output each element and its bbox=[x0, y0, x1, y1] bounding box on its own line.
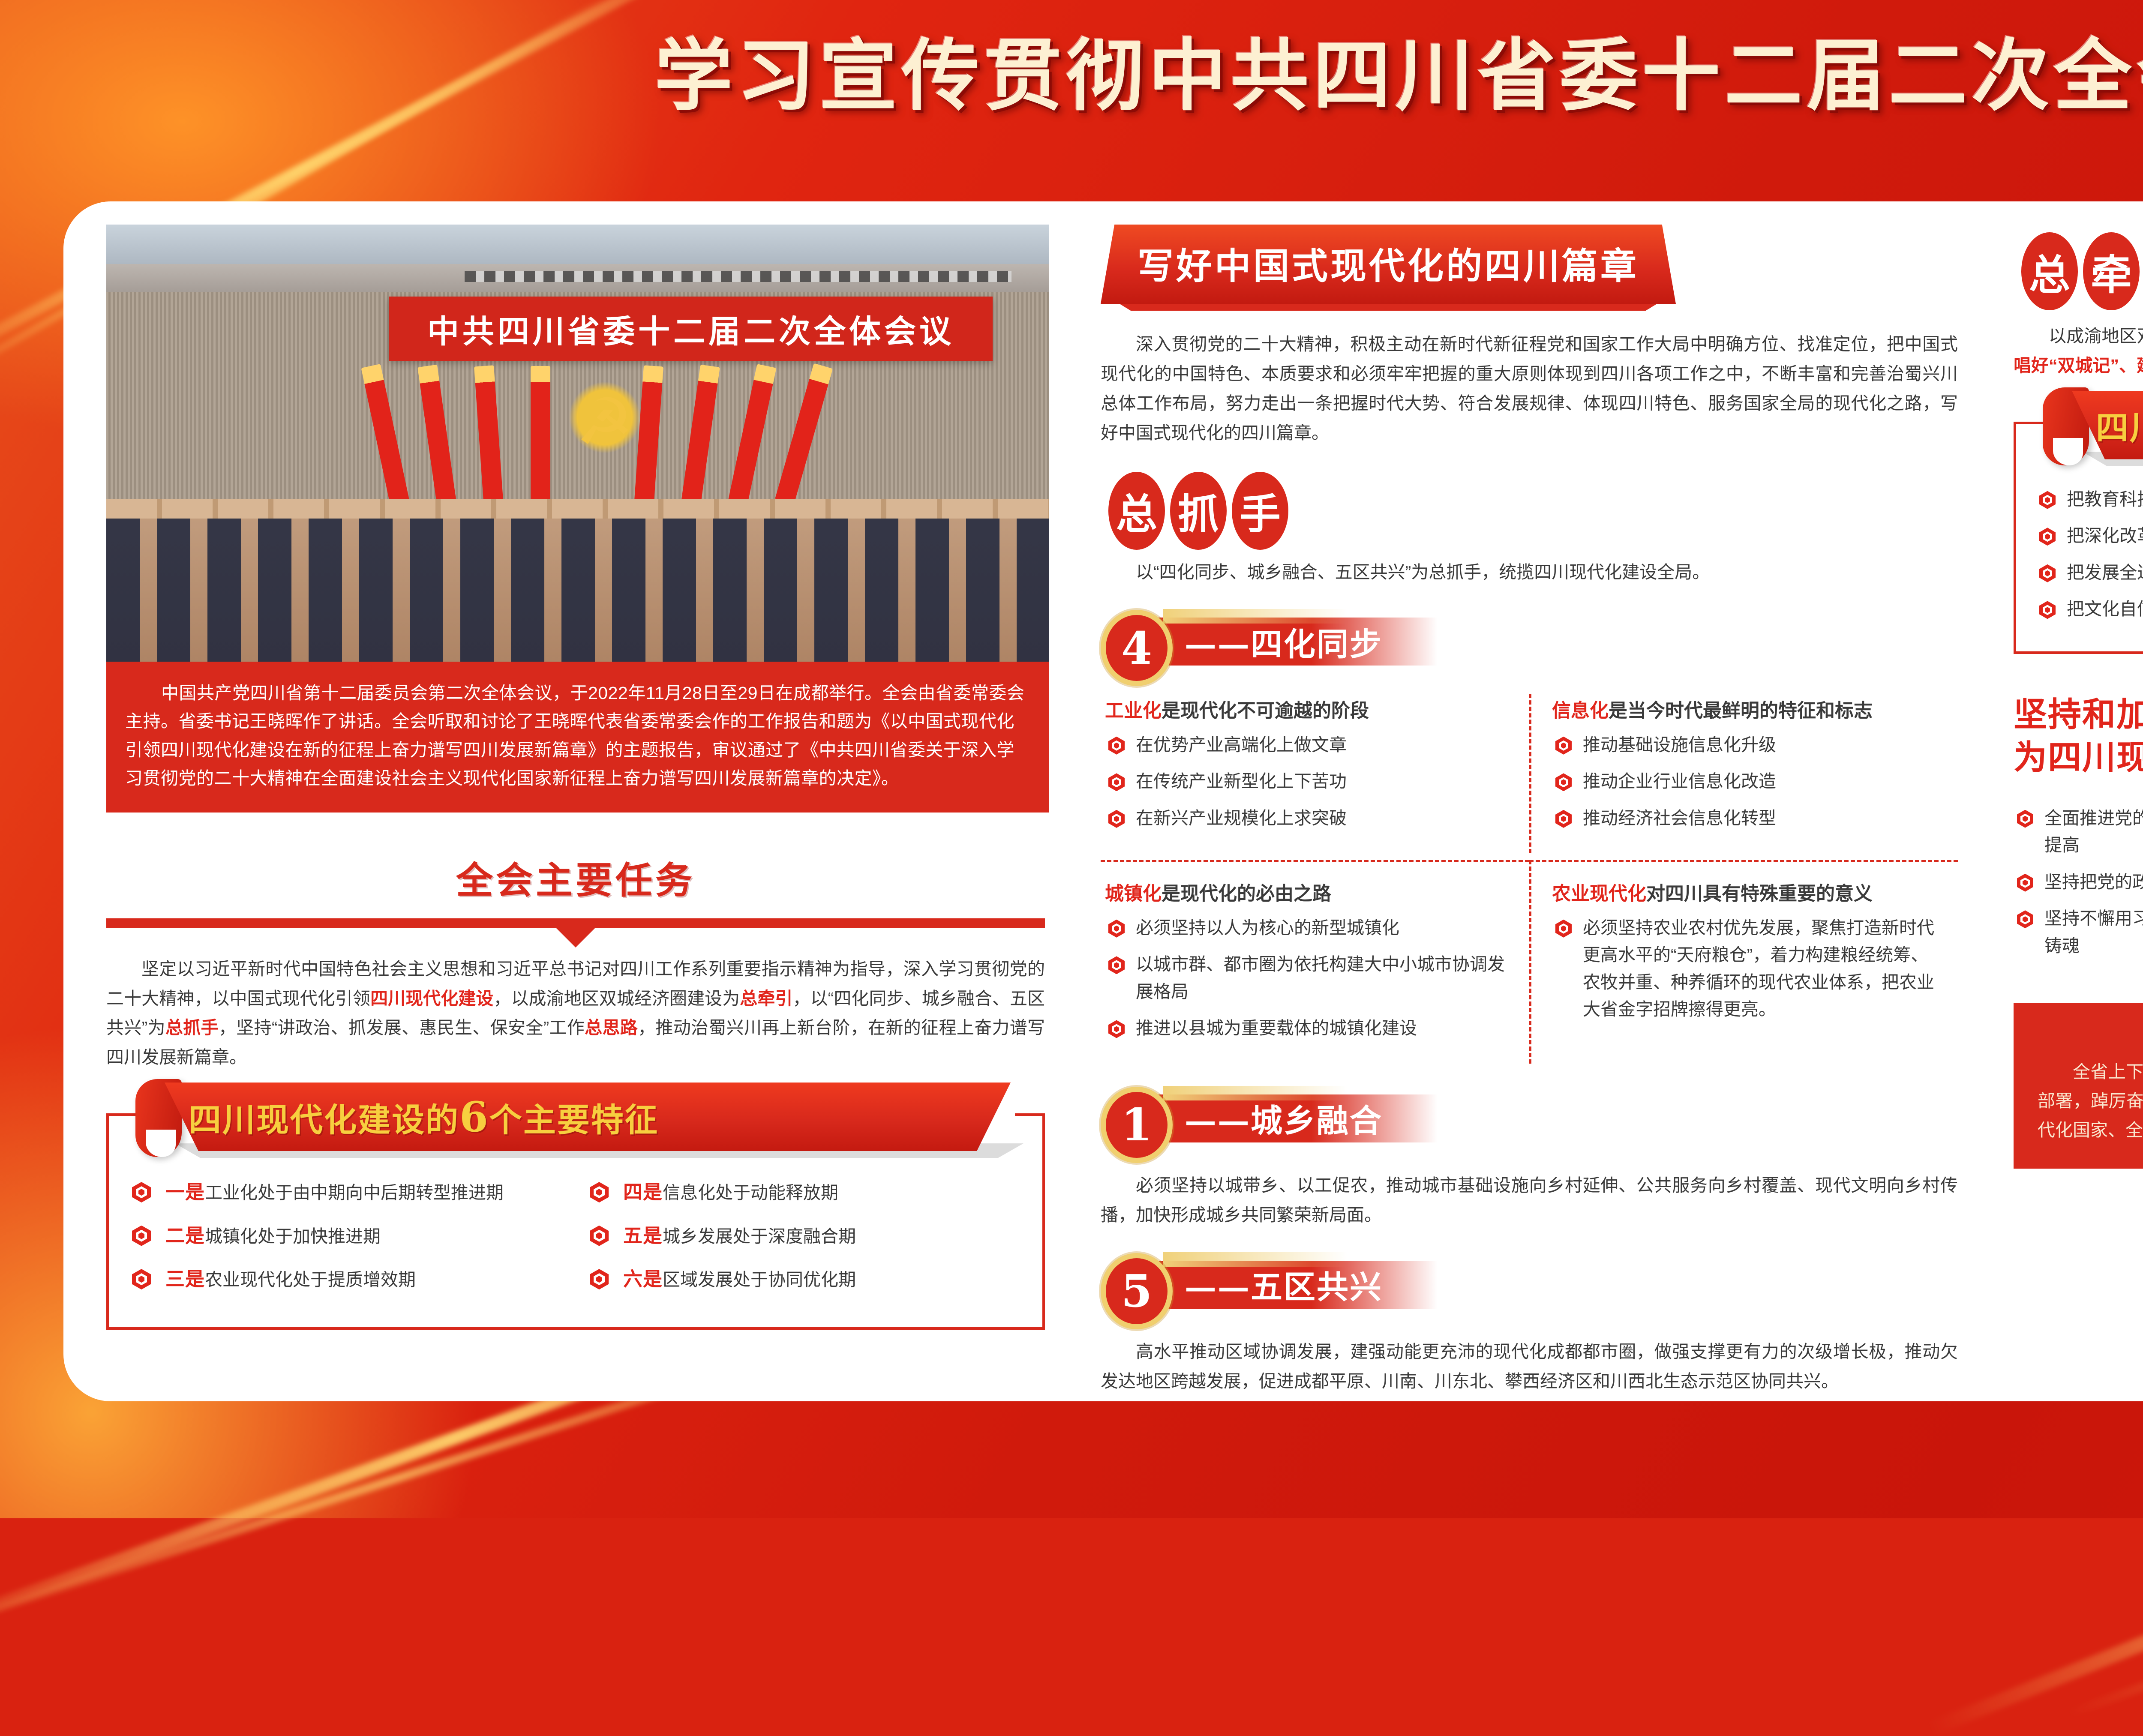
quadrant-informatization: 信息化是当今时代最鲜明的特征和标志 推动基础设施信息化升级 推动企业行业信息化改… bbox=[1529, 694, 1958, 853]
list-item: 推动经济社会信息化转型 bbox=[1552, 805, 1943, 832]
five-zones-label: ——五区共兴 bbox=[1185, 1262, 1383, 1307]
features-list-left: 一是工业化处于由中期向中后期转型推进期 二是城镇化处于加快推进期 三是农业现代化… bbox=[129, 1178, 565, 1308]
feature-text: 农业现代化处于提质增效期 bbox=[205, 1270, 416, 1289]
flag-icon bbox=[531, 366, 550, 507]
four-sync-heading: ——四化同步 4 bbox=[1101, 610, 1958, 683]
quadrant-lead: 是现代化不可逾越的阶段 bbox=[1162, 700, 1369, 721]
key-tasks-box-header: 四川现代化建设的7项重点任务 bbox=[2031, 387, 2143, 465]
feature-number: 四是 bbox=[623, 1181, 663, 1203]
feature-number: 三是 bbox=[165, 1268, 205, 1290]
feature-number: 一是 bbox=[165, 1181, 205, 1203]
five-zones-ribbon: ——五区共兴 bbox=[1138, 1261, 1438, 1309]
features-header-plate: 四川现代化建设的6个主要特征 bbox=[165, 1082, 1011, 1151]
general-traction-tag: 总 牵 引 bbox=[2021, 232, 2143, 310]
general-handle-body: 以“四化同步、城乡融合、五区共兴”为总抓手，统揽四川现代化建设全局。 bbox=[1101, 558, 1958, 587]
tag-char: 牵 bbox=[2083, 232, 2140, 310]
features-box-header: 四川现代化建设的6个主要特征 bbox=[123, 1079, 1011, 1157]
key-tasks-header-text: 四川现代化建设的7项重点任务 bbox=[2096, 401, 2143, 449]
hexagon-bullet-icon bbox=[132, 1182, 151, 1202]
main-task-heading-text: 全会主要任务 bbox=[106, 850, 1045, 904]
four-sync-label: ——四化同步 bbox=[1185, 619, 1383, 665]
call-to-action-box: 全会号召 全省上下要更加紧密地团结在以习近平同志为核心的党中央周围，全面贯彻落实… bbox=[2014, 1003, 2143, 1169]
photo-ceiling bbox=[106, 225, 1049, 264]
list-item: 推动基础设施信息化升级 bbox=[1552, 732, 1943, 759]
list-item: 必须坚持以人为核心的新型城镇化 bbox=[1105, 914, 1515, 942]
flag-icon bbox=[728, 364, 777, 506]
main-task-body-2: ，以成渝地区双城经济圈建设为 bbox=[493, 989, 740, 1008]
feature-number: 六是 bbox=[623, 1268, 663, 1290]
party-leadership-list: 全面推进党的自我净化、自我完善、自我革新、自我提高 坚持把党的政治建设摆在首位 … bbox=[2014, 805, 2143, 969]
hexagon-bullet-icon bbox=[1108, 956, 1125, 974]
quadrant-title: 城镇化是现代化的必由之路 bbox=[1105, 881, 1515, 906]
list-item: 三是农业现代化处于提质增效期 bbox=[129, 1265, 565, 1294]
list-item: 一是工业化处于由中期向中后期转型推进期 bbox=[129, 1178, 565, 1207]
quadrant-title: 工业化是现代化不可逾越的阶段 bbox=[1105, 698, 1515, 723]
quadrant-lead: 是当今时代最鲜明的特征和标志 bbox=[1609, 700, 1873, 721]
list-item: 把发展全过程人民民主作为重要保障 bbox=[2036, 559, 2143, 587]
list-item: 二是城镇化处于加快推进期 bbox=[129, 1221, 565, 1250]
list-item: 六是区域发展处于协同优化期 bbox=[586, 1265, 1023, 1294]
five-zones-number: 5 bbox=[1101, 1253, 1173, 1329]
list-item: 把文化自信自强作为持久精神力量 bbox=[2036, 596, 2143, 623]
list-item: 把深化改革扩大开放作为根本动力 bbox=[2036, 522, 2143, 550]
hexagon-bullet-icon bbox=[590, 1269, 609, 1289]
hexagon-bullet-icon bbox=[2039, 528, 2056, 546]
party-leadership-title-line2: 为四川现代化建设提供坚强保证 bbox=[2014, 736, 2143, 779]
feature-text: 城镇化处于加快推进期 bbox=[205, 1226, 381, 1246]
key-tasks-box: 四川现代化建设的7项重点任务 把教育科技人才作为战略先导 把深化改革扩大开放作为… bbox=[2014, 422, 2143, 654]
party-leadership-list-left: 全面推进党的自我净化、自我完善、自我革新、自我提高 坚持把党的政治建设摆在首位 … bbox=[2014, 805, 2143, 969]
hexagon-bullet-icon bbox=[590, 1226, 609, 1246]
hexagon-bullet-icon bbox=[1555, 773, 1572, 791]
general-handle-tag: 总 抓 手 bbox=[1108, 472, 1958, 550]
feature-text: 信息化处于动能释放期 bbox=[663, 1183, 838, 1202]
hexagon-bullet-icon bbox=[1555, 737, 1572, 755]
hexagon-bullet-icon bbox=[2039, 491, 2056, 509]
flag-icon bbox=[681, 365, 720, 507]
hexagon-bullet-icon bbox=[2017, 874, 2033, 892]
main-task-highlight-2: 总牵引 bbox=[740, 989, 792, 1008]
flag-icon bbox=[361, 364, 410, 506]
chapter-heading-plate: 写好中国式现代化的四川篇章 bbox=[1101, 225, 1676, 304]
hexagon-bullet-icon bbox=[1555, 920, 1572, 938]
list-item: 推动企业行业信息化改造 bbox=[1552, 768, 1943, 795]
list-item: 以城市群、都市圈为依托构建大中小城市协调发展格局 bbox=[1105, 951, 1515, 1005]
five-zones-heading: ——五区共兴 5 bbox=[1101, 1253, 1958, 1326]
feature-number: 五是 bbox=[623, 1225, 663, 1247]
hexagon-bullet-icon bbox=[590, 1182, 609, 1202]
urban-rural-body: 必须坚持以城带乡、以工促农，推动城市基础设施向乡村延伸、公共服务向乡村覆盖、现代… bbox=[1101, 1171, 1958, 1230]
content-card: 中共四川省委十二届二次全体会议 中国共产党四川省第十二届委员会第二次全体会议，于… bbox=[63, 201, 2143, 1401]
features-head-suffix: 个主要特征 bbox=[489, 1101, 659, 1139]
poster-title: 学习宣传贯彻中共四川省委十二届二次全会精神 bbox=[0, 13, 2143, 126]
list-item: 把教育科技人才作为战略先导 bbox=[2036, 486, 2143, 513]
quadrant-bullets: 必须坚持以人为核心的新型城镇化 以城市群、都市圈为依托构建大中小城市协调发展格局… bbox=[1105, 914, 1515, 1042]
photo-stage-banner-text: 中共四川省委十二届二次全体会议 bbox=[427, 306, 954, 352]
hexagon-bullet-icon bbox=[2017, 910, 2033, 928]
hexagon-bullet-icon bbox=[2039, 564, 2056, 582]
tag-char: 抓 bbox=[1170, 472, 1227, 550]
column-right: 总 牵 引 以成渝地区双城经济圈建设作为四川现代化建设的总牵引，加强与重庆方面全… bbox=[1984, 225, 2143, 1384]
quadrant-bullets: 在优势产业高端化上做文章 在传统产业新型化上下苦功 在新兴产业规模化上求突破 bbox=[1105, 732, 1515, 832]
hexagon-bullet-icon bbox=[132, 1226, 151, 1246]
main-task-heading: 全会主要任务 bbox=[106, 850, 1045, 904]
quadrant-title: 信息化是当今时代最鲜明的特征和标志 bbox=[1552, 698, 1943, 723]
urban-rural-label: ——城乡融合 bbox=[1185, 1095, 1383, 1141]
hexagon-bullet-icon bbox=[132, 1269, 151, 1289]
photo-light-rail bbox=[106, 264, 1049, 292]
poster-title-text: 学习宣传贯彻中共四川省委十二届二次全会精神 bbox=[655, 13, 2143, 126]
features-header-text: 四川现代化建设的6个主要特征 bbox=[189, 1093, 659, 1141]
photo-audience-seating bbox=[106, 499, 1049, 662]
list-item: 全面推进党的自我净化、自我完善、自我革新、自我提高 bbox=[2014, 805, 2143, 859]
party-leadership-title-line1: 坚持和加强党的全面领导 bbox=[2014, 693, 2143, 736]
feature-text: 区域发展处于协同优化期 bbox=[663, 1270, 856, 1289]
five-zones-body: 高水平推动区域协调发展，建强动能更充沛的现代化成都都市圈，做强支撑更有力的次级增… bbox=[1101, 1337, 1958, 1396]
features-head-number: 6 bbox=[459, 1093, 489, 1141]
urban-rural-number: 1 bbox=[1101, 1087, 1173, 1163]
quadrant-lead: 对四川具有特殊重要的意义 bbox=[1646, 883, 1873, 904]
quadrant-bullets: 推动基础设施信息化升级 推动企业行业信息化改造 推动经济社会信息化转型 bbox=[1552, 732, 1943, 832]
feature-text: 工业化处于由中期向中后期转型推进期 bbox=[205, 1183, 504, 1202]
four-sync-grid: 工业化是现代化不可逾越的阶段 在优势产业高端化上做文章 在传统产业新型化上下苦功… bbox=[1101, 694, 1958, 1064]
quadrant-key: 城镇化 bbox=[1105, 883, 1162, 904]
column-left: 中共四川省委十二届二次全体会议 中国共产党四川省第十二届委员会第二次全体会议，于… bbox=[89, 225, 1075, 1384]
main-task-highlight-3: 总抓手 bbox=[165, 1018, 219, 1037]
feature-number: 二是 bbox=[165, 1225, 205, 1247]
quadrant-key: 信息化 bbox=[1552, 700, 1609, 721]
hexagon-bullet-icon bbox=[1108, 737, 1125, 755]
quadrant-key: 工业化 bbox=[1105, 700, 1162, 721]
list-item: 在优势产业高端化上做文章 bbox=[1105, 732, 1515, 759]
hexagon-bullet-icon bbox=[1108, 1020, 1125, 1038]
list-item: 坚持把党的政治建设摆在首位 bbox=[2014, 869, 2143, 896]
list-item: 在传统产业新型化上下苦功 bbox=[1105, 768, 1515, 795]
photo-caption: 中国共产党四川省第十二届委员会第二次全体会议，于2022年11月28日至29日在… bbox=[106, 662, 1049, 813]
flag-icon bbox=[474, 365, 504, 507]
hexagon-bullet-icon bbox=[1555, 810, 1572, 828]
list-item: 五是城乡发展处于深度融合期 bbox=[586, 1221, 1023, 1250]
main-task-body: 坚定以习近平新时代中国特色社会主义思想和习近平总书记对四川工作系列重要指示精神为… bbox=[106, 954, 1045, 1073]
hexagon-bullet-icon bbox=[2017, 810, 2033, 828]
main-task-body-4: ，坚持“讲政治、抓发展、惠民生、保安全”工作 bbox=[219, 1018, 585, 1037]
chapter-heading: 写好中国式现代化的四川篇章 bbox=[1101, 225, 1676, 304]
features-box: 四川现代化建设的6个主要特征 一是工业化处于由中期向中后期转型推进期 二是城镇化… bbox=[106, 1113, 1045, 1330]
content-columns: 中共四川省委十二届二次全体会议 中国共产党四川省第十二届委员会第二次全体会议，于… bbox=[63, 201, 2143, 1401]
quadrant-bullets: 必须坚持农业农村优先发展，聚焦打造新时代更高水平的“天府粮仓”，着力构建粮经统筹… bbox=[1552, 914, 1943, 1023]
feature-text: 城乡发展处于深度融合期 bbox=[663, 1226, 856, 1246]
call-to-action-body: 全省上下要更加紧密地团结在以习近平同志为核心的党中央周围，全面贯彻落实党的二十大… bbox=[2038, 1057, 2143, 1145]
four-sync-number: 4 bbox=[1101, 610, 1173, 686]
list-item: 坚持不懈用习近平新时代中国特色社会主义思想凝心铸魂 bbox=[2014, 905, 2143, 959]
hexagon-bullet-icon bbox=[1108, 920, 1125, 938]
general-traction-body: 以成渝地区双城经济圈建设作为四川现代化建设的总牵引，加强与重庆方面全方位协作，在… bbox=[2014, 321, 2143, 381]
conference-photo: 中共四川省委十二届二次全体会议 bbox=[106, 225, 1049, 662]
features-list-right: 四是信息化处于动能释放期 五是城乡发展处于深度融合期 六是区域发展处于协同优化期 bbox=[586, 1178, 1023, 1308]
key-tasks-list-left: 把教育科技人才作为战略先导 把深化改革扩大开放作为根本动力 把发展全过程人民民主… bbox=[2036, 486, 2143, 633]
quadrant-lead: 是现代化的必由之路 bbox=[1162, 883, 1331, 904]
main-task-heading-underline bbox=[106, 918, 1045, 928]
chapter-body: 深入贯彻党的二十大精神，积极主动在新时代新征程党和国家工作大局中明确方位、找准定… bbox=[1101, 330, 1958, 448]
four-sync-ribbon: ——四化同步 bbox=[1138, 618, 1438, 666]
quadrant-industrialization: 工业化是现代化不可逾越的阶段 在优势产业高端化上做文章 在传统产业新型化上下苦功… bbox=[1101, 694, 1529, 853]
hexagon-bullet-icon bbox=[1108, 773, 1125, 791]
tag-char: 总 bbox=[2021, 232, 2078, 310]
flag-icon bbox=[417, 365, 456, 507]
quadrant-urbanization: 城镇化是现代化的必由之路 必须坚持以人为核心的新型城镇化 以城市群、都市圈为依托… bbox=[1101, 860, 1529, 1064]
features-head-prefix: 四川现代化建设的 bbox=[189, 1101, 459, 1139]
tag-char: 总 bbox=[1108, 472, 1165, 550]
hexagon-bullet-icon bbox=[2039, 601, 2056, 619]
list-item: 必须坚持农业农村优先发展，聚焦打造新时代更高水平的“天府粮仓”，着力构建粮经统筹… bbox=[1552, 914, 1943, 1023]
key-tasks-head-prefix: 四川现代化建设的 bbox=[2096, 409, 2143, 447]
features-list: 一是工业化处于由中期向中后期转型推进期 二是城镇化处于加快推进期 三是农业现代化… bbox=[129, 1178, 1023, 1308]
list-item: 在新兴产业规模化上求突破 bbox=[1105, 805, 1515, 832]
party-leadership-title: 坚持和加强党的全面领导 为四川现代化建设提供坚强保证 bbox=[2014, 693, 2143, 779]
traction-body-1: 以成渝地区双城经济圈建设作为四川现代化建设的总牵引， bbox=[2049, 326, 2143, 346]
list-item: 四是信息化处于动能释放期 bbox=[586, 1178, 1023, 1207]
column-middle: 写好中国式现代化的四川篇章 深入贯彻党的二十大精神，积极主动在新时代新征程党和国… bbox=[1075, 225, 1984, 1384]
tag-char: 手 bbox=[1232, 472, 1288, 550]
key-tasks-list: 把教育科技人才作为战略先导 把深化改革扩大开放作为根本动力 把发展全过程人民民主… bbox=[2036, 486, 2143, 633]
hexagon-bullet-icon bbox=[1108, 810, 1125, 828]
photo-stage-banner: 中共四川省委十二届二次全体会议 bbox=[389, 297, 993, 361]
quadrant-title: 农业现代化对四川具有特殊重要的意义 bbox=[1552, 881, 1943, 906]
list-item: 推进以县城为重要载体的城镇化建设 bbox=[1105, 1015, 1515, 1042]
party-emblem-icon bbox=[568, 379, 641, 465]
main-task-highlight-4: 总思路 bbox=[585, 1018, 638, 1037]
quadrant-agricultural-modernization: 农业现代化对四川具有特殊重要的意义 必须坚持农业农村优先发展，聚焦打造新时代更高… bbox=[1529, 860, 1958, 1064]
chapter-heading-text: 写好中国式现代化的四川篇章 bbox=[1138, 245, 1639, 287]
quadrant-key: 农业现代化 bbox=[1552, 883, 1646, 904]
urban-rural-heading: ——城乡融合 1 bbox=[1101, 1087, 1958, 1160]
urban-rural-ribbon: ——城乡融合 bbox=[1138, 1094, 1438, 1142]
main-task-highlight-1: 四川现代化建设 bbox=[370, 989, 493, 1008]
